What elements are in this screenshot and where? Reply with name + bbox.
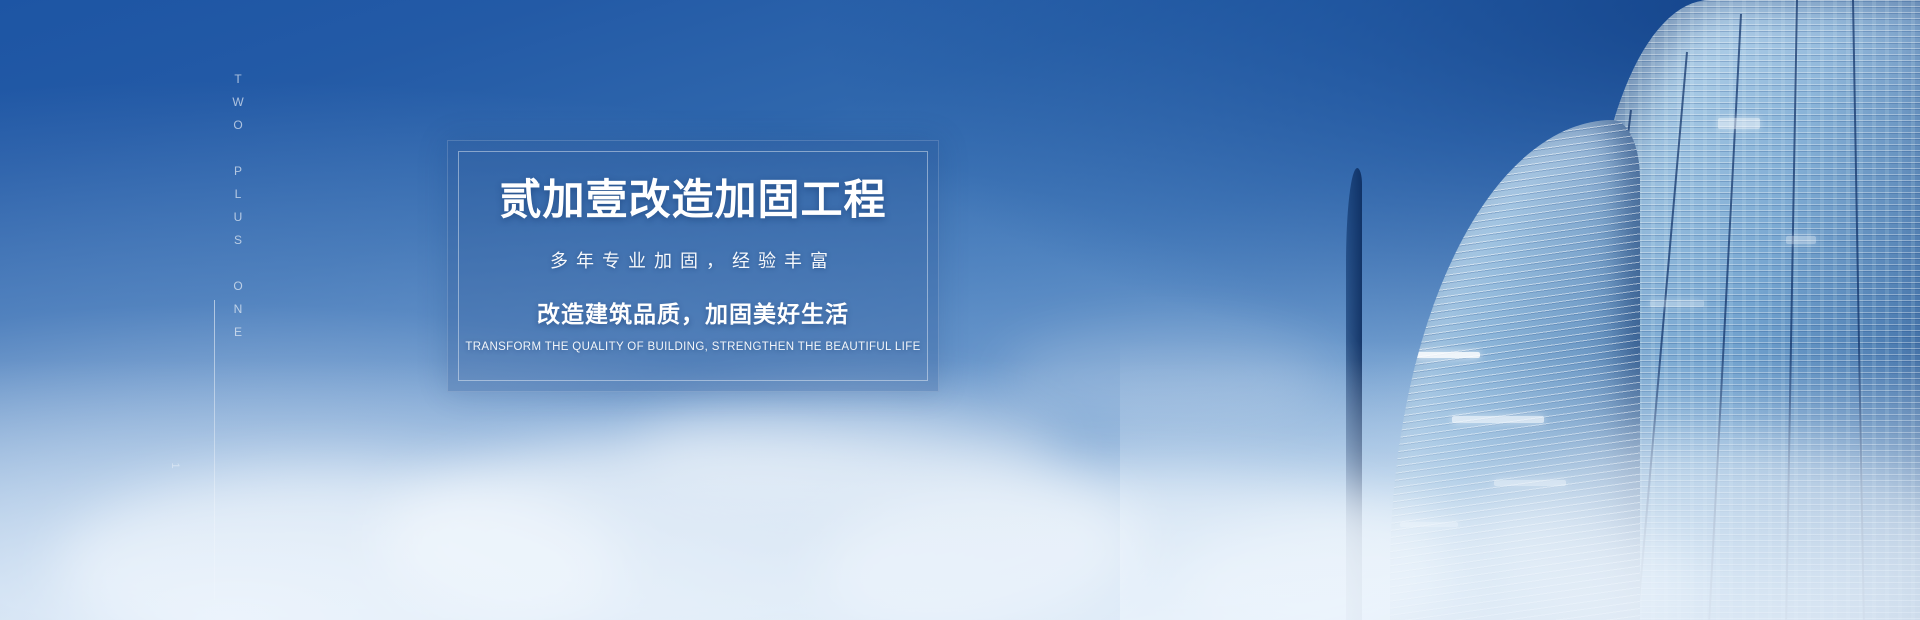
slide-number: 1 <box>169 436 181 496</box>
vertical-brand-text: TWO PLUS ONE <box>185 72 245 348</box>
rail-divider-line <box>214 300 215 600</box>
horizon-haze <box>0 360 1920 620</box>
hero-tagline: 改造建筑品质，加固美好生活 <box>448 295 938 329</box>
hero-subtitle: 多年专业加固，经验丰富 <box>448 247 938 273</box>
hero-text-panel: 贰加壹改造加固工程 多年专业加固，经验丰富 改造建筑品质，加固美好生活 TRAN… <box>447 140 939 392</box>
hero-tagline-english: TRANSFORM THE QUALITY OF BUILDING, STREN… <box>448 341 938 353</box>
brand-rail: TWO PLUS ONE 1 <box>185 0 245 620</box>
panel-content: 贰加壹改造加固工程 多年专业加固，经验丰富 改造建筑品质，加固美好生活 TRAN… <box>448 177 938 353</box>
hero-banner: TWO PLUS ONE 1 贰加壹改造加固工程 多年专业加固，经验丰富 改造建… <box>0 0 1920 620</box>
hero-title: 贰加壹改造加固工程 <box>448 177 938 223</box>
